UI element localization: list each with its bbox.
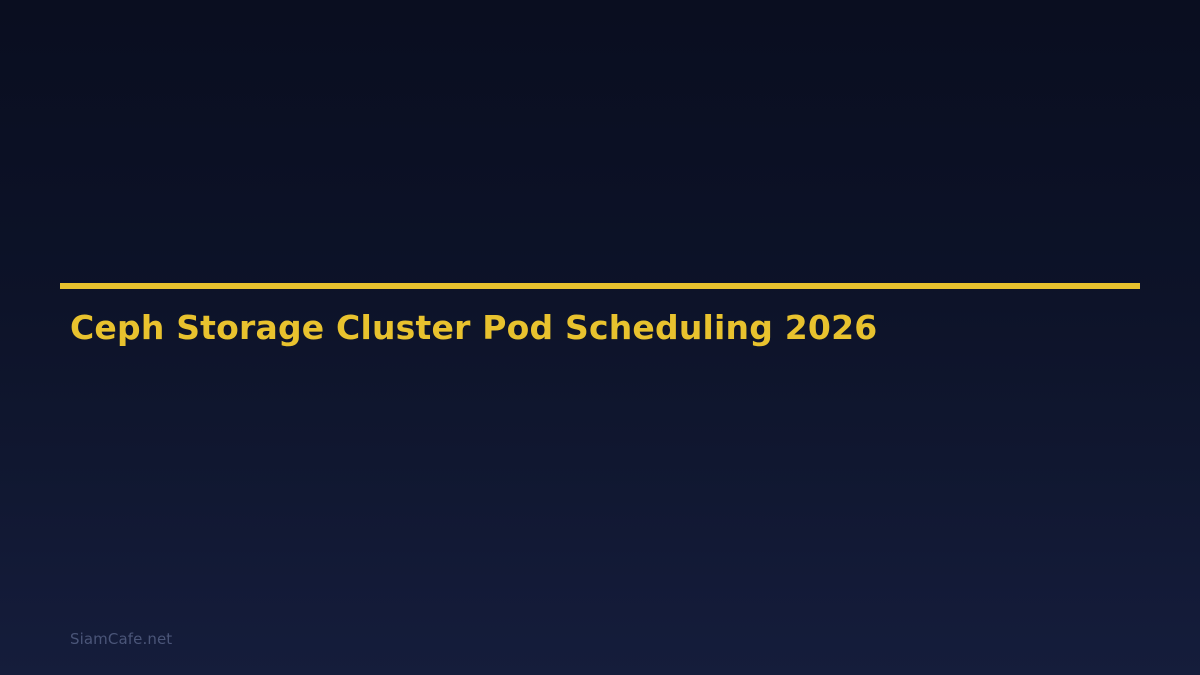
accent-rule-divider bbox=[60, 283, 1140, 289]
page-title: Ceph Storage Cluster Pod Scheduling 2026 bbox=[70, 309, 877, 347]
footer-attribution: SiamCafe.net bbox=[70, 630, 172, 648]
title-block: Ceph Storage Cluster Pod Scheduling 2026 bbox=[60, 283, 1140, 289]
slide-canvas: Ceph Storage Cluster Pod Scheduling 2026… bbox=[0, 0, 1200, 675]
